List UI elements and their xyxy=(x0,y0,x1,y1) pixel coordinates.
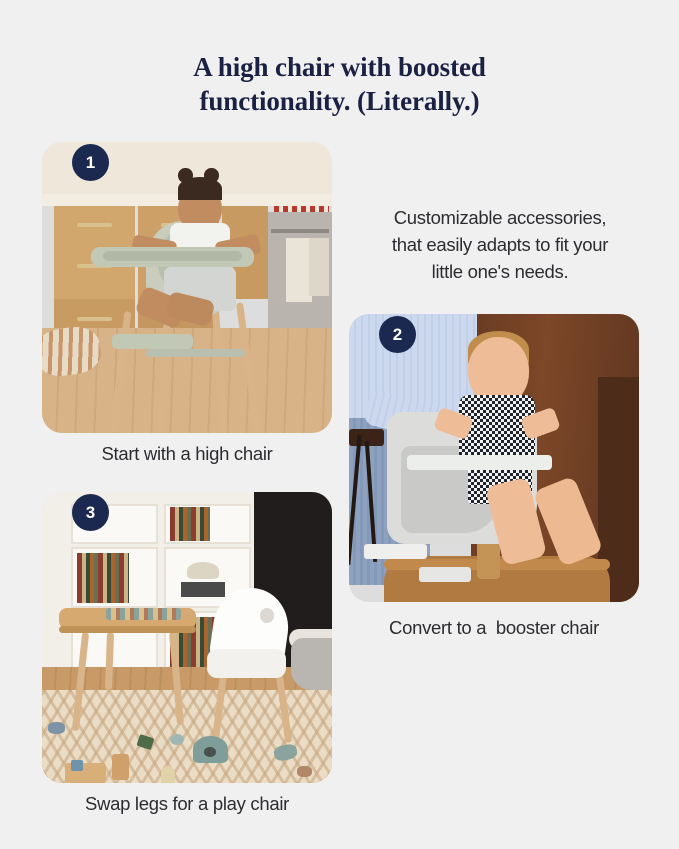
step-caption-3: Swap legs for a play chair xyxy=(42,792,332,816)
drawer-handle xyxy=(77,223,112,227)
booster-strap xyxy=(364,544,428,558)
oven-handle-bar xyxy=(271,229,329,233)
toy-ball xyxy=(170,734,185,746)
toys-on-table xyxy=(106,608,181,620)
play-chair-handle-hole xyxy=(260,608,275,623)
intro-line-3: little one's needs. xyxy=(356,258,644,285)
page-title-line-1: A high chair with boosted xyxy=(0,50,679,84)
kitchen-towel xyxy=(286,238,312,302)
page-title: A high chair with boosted functionality.… xyxy=(0,50,679,118)
toy-block xyxy=(71,760,83,772)
booster-front-bar xyxy=(407,455,552,469)
play-table-edge xyxy=(59,626,195,633)
step-image-high-chair xyxy=(42,142,332,433)
high-chair-photo xyxy=(42,142,332,433)
drawer-handle xyxy=(77,317,112,321)
booster-strap xyxy=(419,567,471,581)
books-row xyxy=(77,553,129,602)
stacked-books xyxy=(181,582,225,597)
booster-chair-photo xyxy=(349,314,639,602)
step-image-play-chair xyxy=(42,492,332,783)
step-image-booster-chair xyxy=(349,314,639,602)
high-chair-footrest xyxy=(112,334,193,349)
toy-pull-along xyxy=(48,722,65,734)
books-row xyxy=(170,507,211,542)
step-badge-2: 2 xyxy=(379,316,416,353)
step-caption-1: Start with a high chair xyxy=(42,442,332,466)
toy-block xyxy=(112,754,129,780)
kitchen-towel xyxy=(309,238,329,296)
intro-line-2: that easily adapts to fit your xyxy=(356,231,644,258)
high-chair-crossbar xyxy=(146,349,245,358)
step-badge-3: 3 xyxy=(72,494,109,531)
baby-hair xyxy=(178,177,222,200)
toy-figure xyxy=(297,766,312,778)
intro-paragraph: Customizable accessories, that easily ad… xyxy=(356,204,644,285)
step-caption-2: Convert to a booster chair xyxy=(349,616,639,640)
page-title-line-2: functionality. (Literally.) xyxy=(0,84,679,118)
toy-cone xyxy=(161,766,176,783)
storage-basket xyxy=(291,638,332,690)
play-chair-seat xyxy=(207,649,285,678)
high-chair-tray-inner xyxy=(103,251,242,261)
step-badge-1: 1 xyxy=(72,144,109,181)
toy-dome-hole xyxy=(204,747,216,757)
intro-line-1: Customizable accessories, xyxy=(356,204,644,231)
play-chair-photo xyxy=(42,492,332,783)
decorative-bowl xyxy=(187,562,219,579)
